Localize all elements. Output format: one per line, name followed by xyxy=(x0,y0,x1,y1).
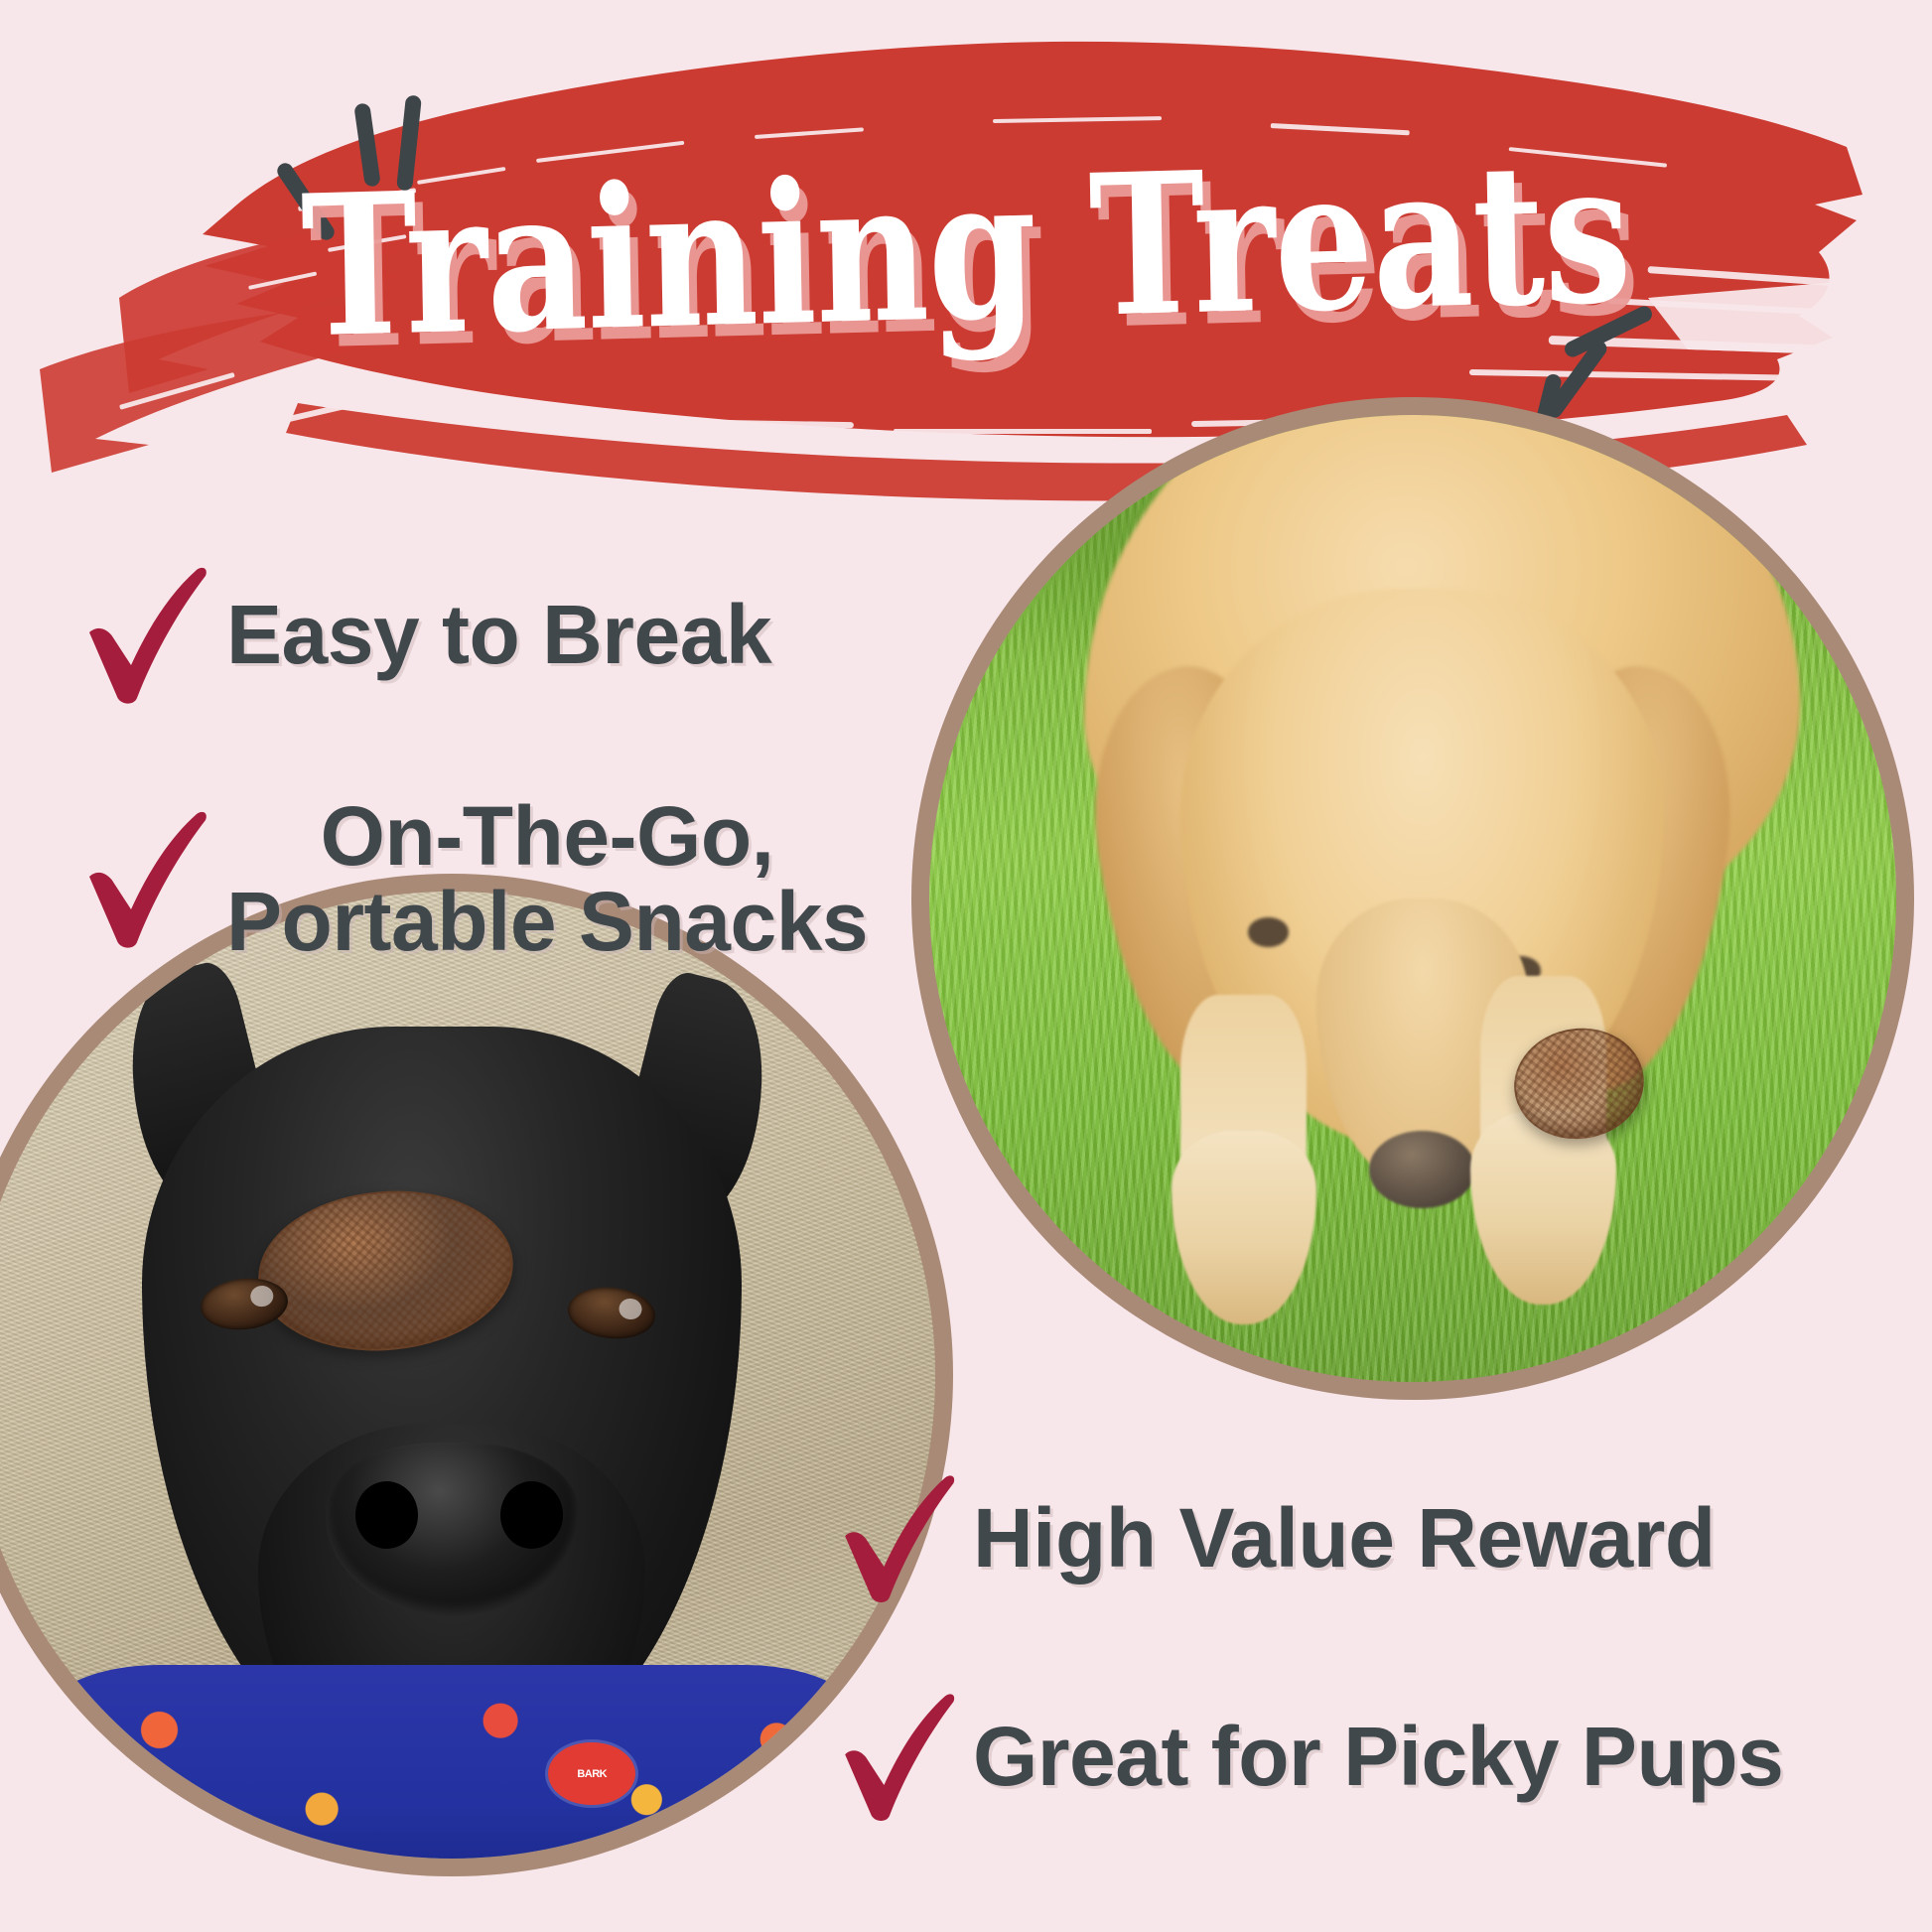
feature-label: On-The-Go, Portable Snacks xyxy=(226,794,868,964)
feature-on-the-go: On-The-Go, Portable Snacks xyxy=(77,794,868,964)
feature-great-for-picky-pups: Great for Picky Pups xyxy=(834,1688,1783,1827)
feature-easy-to-break: Easy to Break xyxy=(77,561,771,710)
dog-eye-left xyxy=(1248,917,1289,946)
black-dog-photo: BARK xyxy=(0,874,953,1876)
dog-nostril-left xyxy=(355,1481,418,1549)
feature-high-value-reward: High Value Reward xyxy=(834,1469,1716,1608)
check-icon xyxy=(834,1469,973,1608)
bandana-badge-label: BARK xyxy=(548,1742,635,1805)
black-dog-photo-image: BARK xyxy=(0,892,935,1859)
bandana-badge: BARK xyxy=(548,1742,635,1805)
check-icon xyxy=(77,561,226,710)
check-icon xyxy=(77,805,226,954)
golden-retriever-photo-image xyxy=(929,415,1896,1382)
poster-canvas: Training Treats xyxy=(0,0,1932,1932)
check-icon xyxy=(834,1688,973,1827)
feature-label: High Value Reward xyxy=(973,1496,1716,1582)
dog-nose xyxy=(1369,1131,1475,1208)
dog-nostril-right xyxy=(500,1481,563,1549)
feature-label: Great for Picky Pups xyxy=(973,1715,1783,1800)
dog-bandana xyxy=(46,1665,858,1859)
golden-retriever-photo xyxy=(911,397,1914,1400)
feature-label: Easy to Break xyxy=(226,593,771,678)
